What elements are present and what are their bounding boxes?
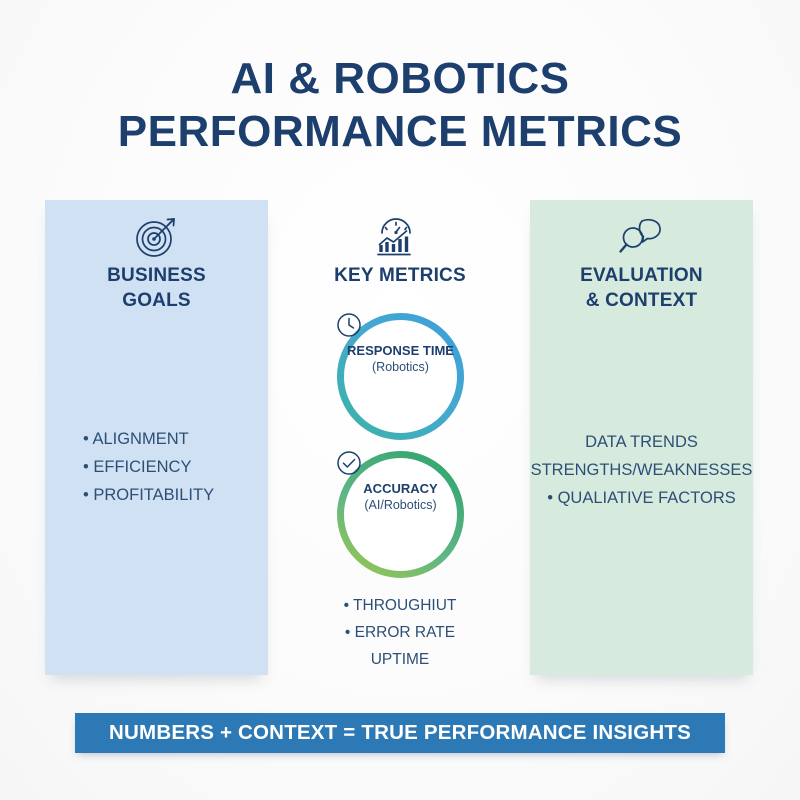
- list-item: UPTIME: [287, 646, 513, 673]
- summary-banner: NUMBERS + CONTEXT = TRUE PERFORMANCE INS…: [75, 713, 725, 753]
- list-item: • EFFICIENCY: [83, 453, 268, 481]
- panel-left-heading: BUSINESS GOALS: [45, 263, 268, 313]
- metric-circle-accuracy: ACCURACY (AI/Robotics): [336, 450, 465, 579]
- list-item: • ERROR RATE: [287, 619, 513, 646]
- list-item: • THROUGHIUT: [287, 592, 513, 619]
- title-line-1: AI & ROBOTICS: [0, 52, 800, 105]
- panel-center-heading: KEY METRICS: [287, 263, 513, 288]
- evaluation-context-list: DATA TRENDS STRENGTHS/WEAKNESSES • QUALI…: [530, 428, 753, 512]
- list-item: • ALIGNMENT: [83, 425, 268, 453]
- infographic-canvas: AI & ROBOTICS PERFORMANCE METRICS BUSINE…: [0, 0, 800, 800]
- list-item: • QUALIATIVE FACTORS: [530, 484, 753, 512]
- metric-title: RESPONSE TIME: [347, 343, 454, 359]
- metric-circle-response-time: RESPONSE TIME (Robotics): [336, 312, 465, 441]
- business-goals-list: • ALIGNMENT • EFFICIENCY • PROFITABILITY: [45, 425, 268, 509]
- key-metrics-list: • THROUGHIUT • ERROR RATE UPTIME: [287, 592, 513, 673]
- list-item: DATA TRENDS: [530, 428, 753, 456]
- metric-title: ACCURACY: [363, 481, 437, 497]
- list-item: • PROFITABILITY: [83, 481, 268, 509]
- list-item: STRENGTHS/WEAKNESSES: [530, 456, 753, 484]
- target-icon: [45, 212, 268, 268]
- panel-left-heading-line-2: GOALS: [45, 288, 268, 313]
- page-title: AI & ROBOTICS PERFORMANCE METRICS: [0, 52, 800, 158]
- column-key-metrics: KEY METRICS RESPONSE TIME (Robotics): [287, 200, 513, 675]
- panel-evaluation-context: EVALUATION & CONTEXT DATA TRENDS STRENGT…: [530, 200, 753, 675]
- panel-right-heading-line-2: & CONTEXT: [530, 288, 753, 313]
- panel-left-heading-line-1: BUSINESS: [45, 263, 268, 288]
- panel-business-goals: BUSINESS GOALS • ALIGNMENT • EFFICIENCY …: [45, 200, 268, 675]
- magnifier-speech-bubble-icon: [530, 212, 753, 268]
- metric-subtitle: (AI/Robotics): [364, 497, 436, 513]
- title-line-2: PERFORMANCE METRICS: [0, 105, 800, 158]
- summary-banner-text: NUMBERS + CONTEXT = TRUE PERFORMANCE INS…: [109, 721, 691, 745]
- panel-right-heading: EVALUATION & CONTEXT: [530, 263, 753, 313]
- metric-subtitle: (Robotics): [372, 359, 429, 375]
- gauge-bar-chart-icon: [287, 212, 513, 268]
- panel-right-heading-line-1: EVALUATION: [530, 263, 753, 288]
